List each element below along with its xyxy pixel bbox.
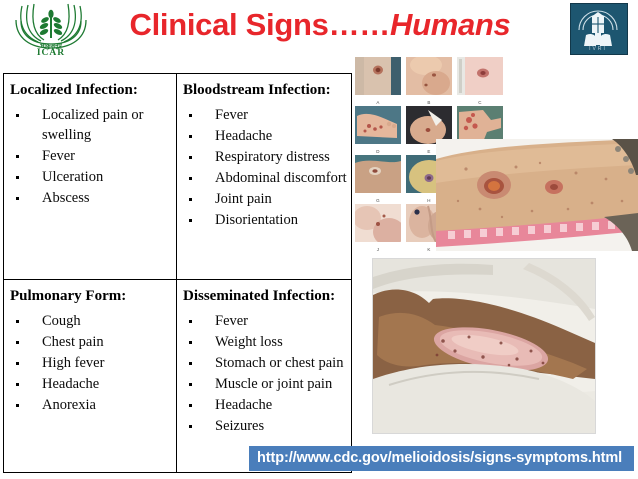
- symptom-list: Localized pain or swelling Fever Ulcerat…: [8, 105, 172, 208]
- table-cell-localized-infection: Localized Infection: Localized pain or s…: [4, 74, 176, 279]
- ivri-logo: IVRI: [570, 3, 628, 55]
- photo-label: B: [406, 100, 452, 105]
- list-item: Cough: [8, 311, 172, 331]
- photo-cell-c: C: [457, 57, 503, 105]
- cell-title: Disseminated Infection:: [183, 287, 347, 305]
- table-row: Pulmonary Form: Cough Chest pain High fe…: [4, 279, 351, 472]
- photo-label: D: [355, 149, 401, 154]
- list-item: Fever: [181, 105, 347, 125]
- lesion-photo-b: [406, 57, 452, 95]
- lesion-photo-d: [355, 106, 401, 144]
- lesion-photo-a: [355, 57, 401, 95]
- cell-title: Bloodstream Infection:: [183, 81, 347, 99]
- icar-logo: भाकृअनुप ICAR: [8, 2, 100, 56]
- cell-title: Localized Infection:: [10, 81, 172, 99]
- list-item: Ulceration: [8, 167, 172, 187]
- cell-title: Pulmonary Form:: [10, 287, 172, 305]
- list-item: Respiratory distress: [181, 147, 347, 167]
- symptom-list: Fever Weight loss Stomach or chest pain …: [181, 311, 347, 436]
- list-item: High fever: [8, 353, 172, 373]
- symptom-table: Localized Infection: Localized pain or s…: [3, 73, 352, 473]
- arm-ulcer-photo: [436, 139, 638, 251]
- photo-label: G: [355, 198, 401, 203]
- page-title-italic: Humans: [390, 7, 511, 42]
- photo-label: A: [355, 100, 401, 105]
- photo-label: J: [355, 247, 401, 252]
- list-item: Headache: [8, 374, 172, 394]
- arm-ulcer-photo-graphic: [436, 139, 638, 251]
- ivri-acronym-text: IVRI: [589, 46, 607, 52]
- symptom-list: Cough Chest pain High fever Headache Ano…: [8, 311, 172, 415]
- lesion-photo-j: [355, 204, 401, 242]
- list-item: Muscle or joint pain: [181, 374, 347, 394]
- table-cell-pulmonary-form: Pulmonary Form: Cough Chest pain High fe…: [4, 280, 176, 472]
- forearm-lesion-photo-graphic: [373, 259, 595, 433]
- list-item: Headache: [181, 395, 347, 415]
- forearm-lesion-photo: [372, 258, 596, 434]
- list-item: Fever: [8, 146, 172, 166]
- photo-cell-d: D: [355, 106, 401, 154]
- lesion-photo-g: [355, 155, 401, 193]
- list-item: Stomach or chest pain: [181, 353, 347, 373]
- list-item: Seizures: [181, 416, 347, 436]
- list-item: Abdominal discomfort: [181, 168, 347, 188]
- icar-acronym-text: ICAR: [37, 48, 65, 56]
- list-item: Fever: [181, 311, 347, 331]
- list-item: Localized pain or swelling: [8, 105, 172, 145]
- symptom-list: Fever Headache Respiratory distress Abdo…: [181, 105, 347, 230]
- photo-cell-b: B: [406, 57, 452, 105]
- photo-cell-a: A: [355, 57, 401, 105]
- list-item: Weight loss: [181, 332, 347, 352]
- list-item: Headache: [181, 126, 347, 146]
- table-row: Localized Infection: Localized pain or s…: [4, 74, 351, 279]
- source-url-banner[interactable]: http://www.cdc.gov/melioidosis/signs-sym…: [249, 446, 634, 471]
- list-item: Joint pain: [181, 189, 347, 209]
- table-cell-bloodstream-infection: Bloodstream Infection: Fever Headache Re…: [176, 74, 351, 279]
- photo-cell-j: J: [355, 204, 401, 252]
- list-item: Disorientation: [181, 210, 347, 230]
- list-item: Chest pain: [8, 332, 172, 352]
- table-cell-disseminated-infection: Disseminated Infection: Fever Weight los…: [176, 280, 351, 472]
- page-title: Clinical Signs……Humans: [110, 6, 530, 44]
- photo-label: C: [457, 100, 503, 105]
- page-title-main: Clinical Signs……: [130, 7, 390, 42]
- list-item: Abscess: [8, 188, 172, 208]
- slide-header: भाकृअनुप ICAR Clinical Signs……Humans I: [0, 0, 638, 58]
- lesion-photo-c: [457, 57, 503, 95]
- list-item: Anorexia: [8, 395, 172, 415]
- photo-cell-g: G: [355, 155, 401, 203]
